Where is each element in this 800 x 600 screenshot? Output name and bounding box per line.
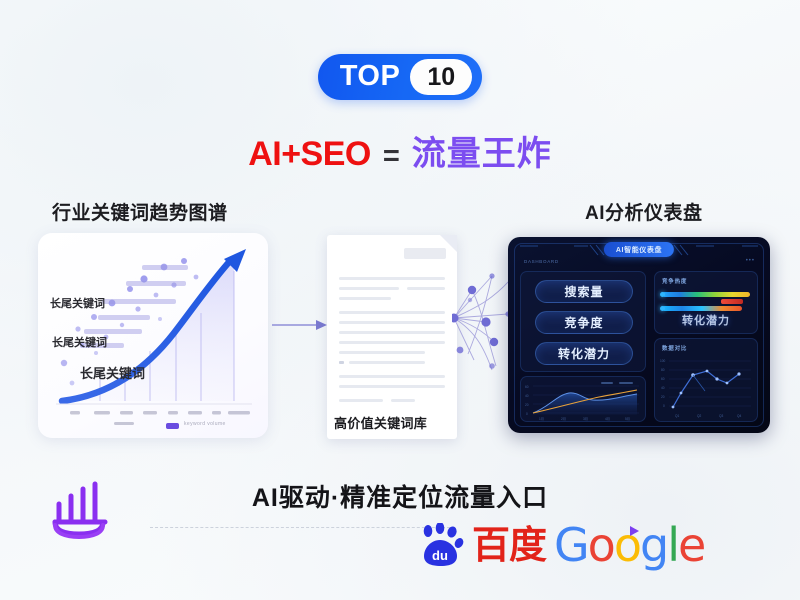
metric-pill-search-volume[interactable]: 搜索量 [535,280,633,303]
google-letter-e: e [678,518,704,572]
document-text-line [339,399,383,402]
svg-text:40: 40 [525,394,529,398]
top-badge-wrapper: TOP 10 [0,54,800,100]
slide-canvas: TOP 10 AI+SEO = 流量王炸 行业关键词趋势图谱 AI分析仪表盘 [0,0,800,600]
search-engine-logos: du 百度 Google [418,522,704,568]
area-chart-graphic: 1月2月 3月4月 5月 6040 200 [521,377,647,423]
dashboard-subtitle: DASHBOARD [524,259,559,264]
title-part-traffic: 流量王炸 [412,126,552,175]
footer-tagline: AI驱动·精准定位流量入口 [0,478,800,514]
metric-pill-competition[interactable]: 竞争度 [535,311,633,334]
chart-legend-label: keyword volume [184,421,226,427]
document-text-line [339,331,445,334]
document-text-line [407,287,445,290]
line-chart-graphic: Q1Q2 Q3Q4 10080 6040 200 [655,339,759,423]
document-bullet [339,361,344,364]
heat-panel-title: 竞争热度 [662,277,687,285]
document-text-line [339,287,399,290]
footer-divider [150,527,450,528]
google-letter-g1: G [554,518,588,572]
ai-dashboard-panel: AI智能仪表盘 DASHBOARD ••• 搜索量 竞争度 转化潜力 竞争热度 … [508,237,770,433]
document-text-line [339,277,445,280]
chart-legend-swatch [166,423,179,429]
page-title: AI+SEO = 流量王炸 [0,126,800,175]
dashboard-title-badge: AI智能仪表盘 [604,242,674,257]
document-text-line [339,297,391,300]
svg-text:4月: 4月 [605,417,610,421]
google-letter-l: l [667,518,678,572]
dashboard-area-chart-panel: 1月2月 3月4月 5月 6040 200 [520,376,646,422]
top-badge-label: TOP [340,62,401,93]
keyword-trend-card: 长尾关键词 长尾关键词 长尾关键词 keyword volume [38,233,268,438]
heat-marker-dot [660,292,665,297]
svg-text:80: 80 [661,368,665,372]
section-label-trend-chart: 行业关键词趋势图谱 [52,198,228,225]
keyword-library-document: 高价值关键词库 [327,235,457,439]
purple-play-marker-icon [627,524,641,538]
document-caption: 高价值关键词库 [334,413,427,432]
heat-alert-tag [721,299,743,304]
dashboard-heat-panel: 竞争热度 转化潜力 [654,271,758,334]
document-text-line [391,399,415,402]
keyword-label-3: 长尾关键词 [80,363,145,382]
baidu-wordmark: 百度 [472,526,546,564]
google-letter-g2: g [640,518,667,572]
svg-text:0: 0 [526,412,528,416]
flow-arrow-right-icon [272,318,328,332]
svg-text:Q3: Q3 [719,414,723,418]
document-text-line [339,375,445,378]
baidu-paw-icon: du [418,523,464,567]
svg-text:20: 20 [661,395,665,399]
document-text-line [349,361,425,364]
section-label-dashboard: AI分析仪表盘 [585,198,703,225]
dashboard-menu-icon[interactable]: ••• [746,258,755,264]
svg-text:60: 60 [525,385,529,389]
svg-text:60: 60 [661,377,665,381]
document-text-line [339,311,445,314]
title-equals-sign: = [383,140,400,173]
keyword-label-2: 长尾关键词 [52,334,107,350]
document-text-line [339,351,425,354]
svg-text:3月: 3月 [583,417,588,421]
document-text-line [339,341,445,344]
svg-text:5月: 5月 [625,417,630,421]
top-badge-number: 10 [410,59,472,95]
heat-bar-secondary [662,306,742,311]
keyword-label-1: 长尾关键词 [50,295,105,311]
heat-marker-dot [660,306,665,311]
google-letter-o1: o [588,518,614,572]
svg-text:20: 20 [525,403,529,407]
node-network-graphic [452,262,514,374]
top-rank-badge: TOP 10 [318,54,483,100]
document-header-chip [404,248,446,259]
svg-text:1月: 1月 [539,417,544,421]
document-text-line [339,385,445,388]
heat-panel-overlay-label: 转化潜力 [655,312,757,328]
svg-text:2月: 2月 [561,417,566,421]
title-part-ai-seo: AI+SEO [248,135,371,174]
svg-text:40: 40 [661,386,665,390]
svg-text:Q1: Q1 [675,414,679,418]
heat-bar-primary [662,292,750,297]
document-text-line [339,321,445,324]
svg-text:du: du [432,548,448,563]
svg-text:Q4: Q4 [737,414,741,418]
metric-pill-conversion[interactable]: 转化潜力 [535,342,633,365]
dashboard-metrics-panel: 搜索量 竞争度 转化潜力 [520,271,646,372]
svg-text:Q2: Q2 [697,414,701,418]
dashboard-line-chart-panel: 数据对比 [654,338,758,422]
svg-text:0: 0 [663,404,665,408]
bar-chart-pedestal-icon [45,480,117,542]
svg-text:100: 100 [660,359,666,363]
